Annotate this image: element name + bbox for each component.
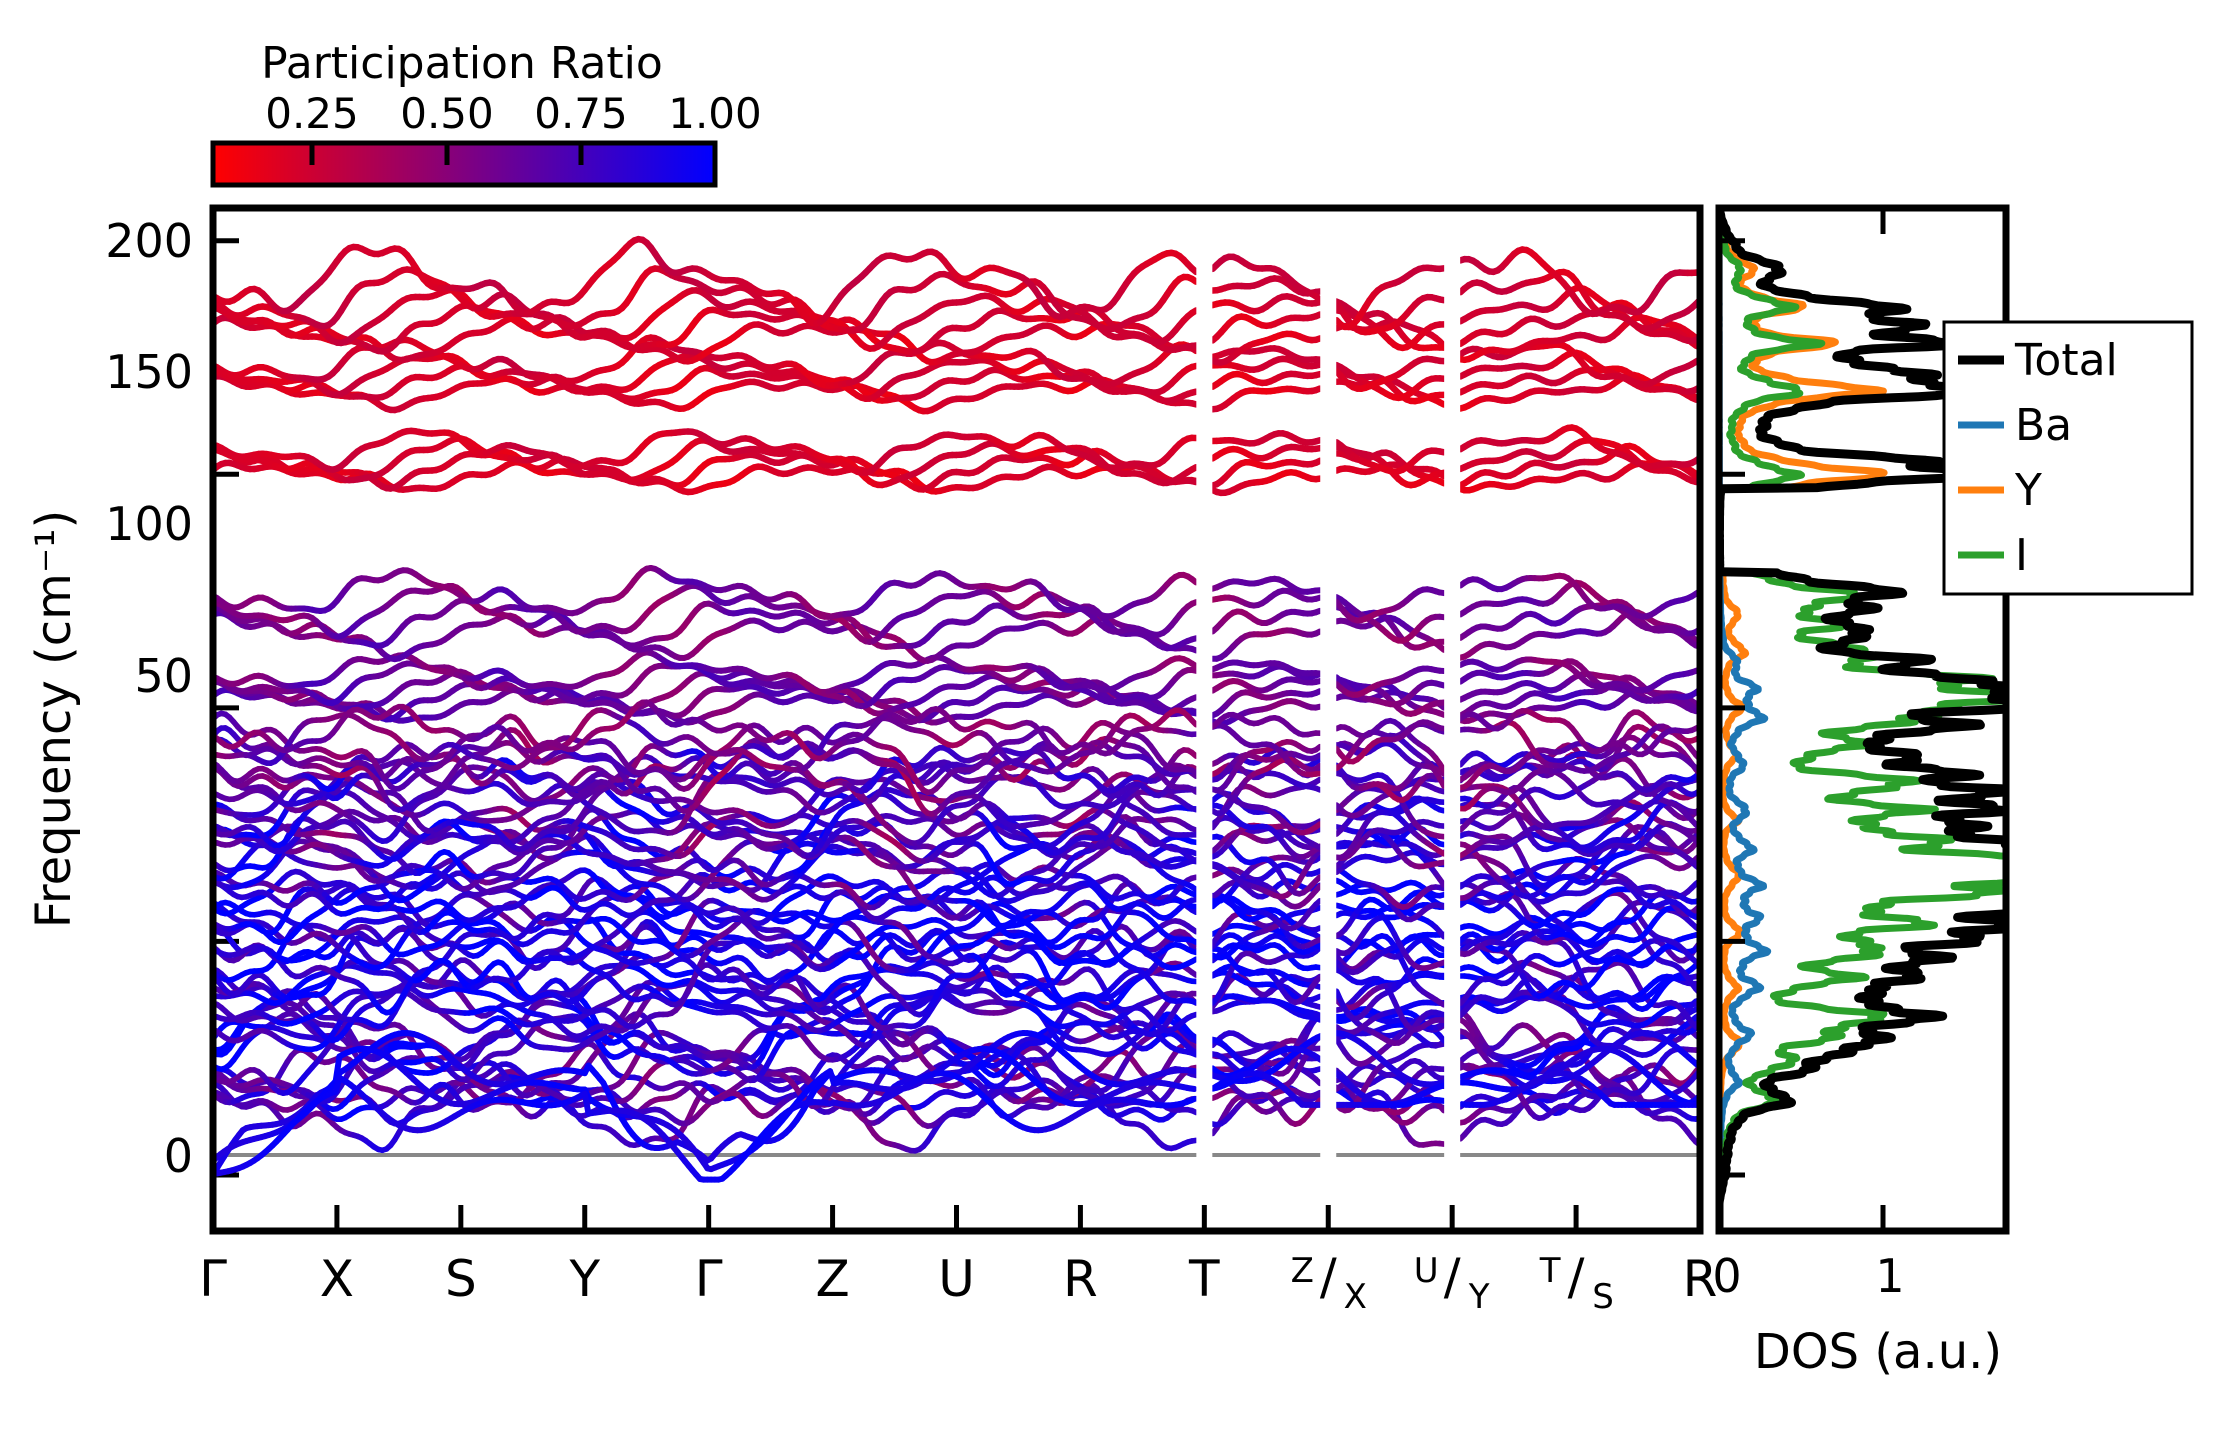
band-segment xyxy=(1316,440,1320,441)
band-segment xyxy=(1316,296,1320,299)
band-segment xyxy=(1316,461,1320,463)
colorbar-title: Participation Ratio xyxy=(261,38,663,89)
band-segment xyxy=(1192,366,1196,367)
band-segment xyxy=(1440,481,1444,483)
band-segment xyxy=(1192,310,1196,313)
band-segment xyxy=(1316,338,1320,339)
band-segment xyxy=(1316,707,1320,708)
band-segment xyxy=(1440,268,1444,269)
band-segment xyxy=(1192,279,1196,282)
band-segment xyxy=(1192,467,1196,469)
band-segment xyxy=(1316,315,1320,317)
band-segment xyxy=(1192,403,1196,404)
bands-ytick-label-3: 50 xyxy=(134,649,193,703)
band-segment xyxy=(1440,473,1444,474)
colorbar-tick-0: 0.25 xyxy=(265,89,359,138)
band-segment xyxy=(1192,481,1196,482)
band-segment xyxy=(1316,389,1320,391)
band-segment xyxy=(1192,392,1196,393)
colorbar-tick-3: 1.00 xyxy=(668,89,762,138)
band-segment xyxy=(1316,479,1320,480)
band-segment xyxy=(1440,299,1444,300)
band-segment xyxy=(1440,402,1444,404)
colorbar-tick-1: 0.50 xyxy=(400,89,494,138)
figure-canvas: Participation Ratio 0.25 0.50 0.75 1.00 … xyxy=(0,0,2222,1455)
bands-ytick-label-2: 100 xyxy=(105,497,193,551)
band-segment xyxy=(1316,365,1320,366)
bands-ytick-label-4: 0 xyxy=(164,1129,193,1183)
band-segment xyxy=(1316,448,1320,449)
band-segment xyxy=(1192,268,1196,271)
bands-ylabel: Frequency (cm⁻¹) xyxy=(26,510,82,928)
colorbar-tick-2: 0.75 xyxy=(534,89,628,138)
colorbar-gradient xyxy=(213,143,715,185)
bands-ytick-label-1: 150 xyxy=(105,345,193,399)
band-segment xyxy=(1316,374,1320,375)
phonon-figure: Participation Ratio 0.25 0.50 0.75 1.00 … xyxy=(0,0,2222,1455)
band-segment xyxy=(1440,451,1444,452)
bands-ytick-label-0: 200 xyxy=(105,214,193,268)
